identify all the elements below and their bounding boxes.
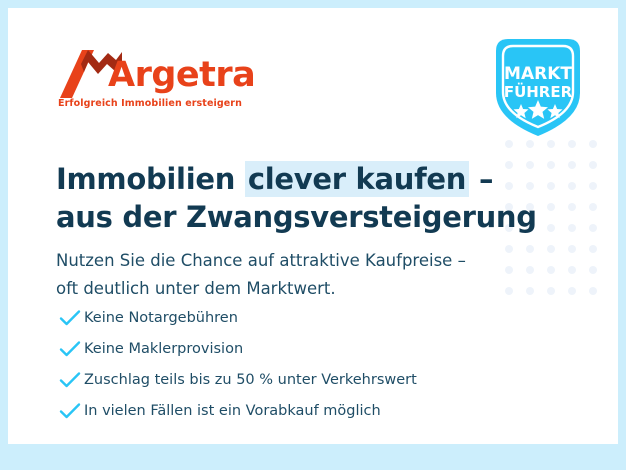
- decorative-dot: [589, 287, 597, 295]
- decorative-dot: [547, 266, 555, 274]
- decorative-dot: [547, 224, 555, 232]
- badge-line1: MARKT: [504, 64, 572, 84]
- decorative-dot: [589, 203, 597, 211]
- subtitle-line2: oft deutlich unter dem Marktwert.: [56, 279, 336, 298]
- check-icon: [56, 309, 84, 327]
- list-item: Keine Notargebühren: [56, 302, 486, 333]
- badge-line2: FÜHRER: [504, 82, 573, 101]
- decorative-dot: [547, 140, 555, 148]
- headline-pre: Immobilien: [56, 162, 245, 196]
- decorative-dot: [547, 287, 555, 295]
- benefit-list: Keine NotargebührenKeine Maklerprovision…: [56, 302, 486, 426]
- list-item: Zuschlag teils bis zu 50 % unter Verkehr…: [56, 364, 486, 395]
- decorative-dot: [568, 140, 576, 148]
- logo-wordmark: Argetra: [108, 54, 255, 96]
- decorative-dot: [505, 266, 513, 274]
- page-subtitle: Nutzen Sie die Chance auf attraktive Kau…: [56, 247, 466, 303]
- list-item: In vielen Fällen ist ein Vorabkauf mögli…: [56, 395, 486, 426]
- headline-line2: aus der Zwangsversteigerung: [56, 200, 537, 234]
- banner-canvas: Argetra Erfolgreich Immobilien ersteiger…: [8, 8, 618, 444]
- list-item-label: Keine Maklerprovision: [84, 340, 243, 358]
- decorative-dot: [505, 287, 513, 295]
- decorative-dot: [547, 182, 555, 190]
- decorative-dot: [505, 140, 513, 148]
- decorative-dot: [589, 266, 597, 274]
- decorative-dot: [589, 182, 597, 190]
- decorative-dot: [526, 140, 534, 148]
- decorative-dot: [568, 182, 576, 190]
- decorative-dot: [547, 161, 555, 169]
- list-item-label: Keine Notargebühren: [84, 309, 238, 327]
- decorative-dot: [589, 245, 597, 253]
- check-icon: [56, 402, 84, 420]
- list-item-label: In vielen Fällen ist ein Vorabkauf mögli…: [84, 402, 381, 420]
- argetra-logo[interactable]: Argetra Erfolgreich Immobilien ersteiger…: [56, 48, 256, 98]
- page-title: Immobilien clever kaufen – aus der Zwang…: [56, 160, 537, 236]
- subtitle-line1: Nutzen Sie die Chance auf attraktive Kau…: [56, 251, 466, 270]
- decorative-dot: [589, 140, 597, 148]
- decorative-dot: [568, 266, 576, 274]
- decorative-dot: [526, 266, 534, 274]
- market-leader-badge: MARKT FÜHRER: [490, 33, 586, 141]
- check-icon: [56, 340, 84, 358]
- decorative-dot: [589, 224, 597, 232]
- decorative-dot: [568, 224, 576, 232]
- decorative-dot: [568, 245, 576, 253]
- logo-tagline: Erfolgreich Immobilien ersteigern: [58, 98, 242, 109]
- headline-highlight: clever kaufen: [245, 161, 469, 197]
- decorative-dot: [589, 161, 597, 169]
- decorative-dot: [568, 287, 576, 295]
- decorative-dot: [505, 245, 513, 253]
- decorative-dot: [547, 245, 555, 253]
- decorative-dot: [526, 245, 534, 253]
- decorative-dot: [547, 203, 555, 211]
- list-item-label: Zuschlag teils bis zu 50 % unter Verkehr…: [84, 371, 417, 389]
- list-item: Keine Maklerprovision: [56, 333, 486, 364]
- decorative-dot: [526, 287, 534, 295]
- promo-banner: Argetra Erfolgreich Immobilien ersteiger…: [0, 0, 626, 470]
- headline-line1: Immobilien clever kaufen –: [56, 161, 493, 197]
- check-icon: [56, 371, 84, 389]
- logo-row: Argetra: [56, 48, 256, 98]
- decorative-dot: [568, 203, 576, 211]
- decorative-dot: [568, 161, 576, 169]
- headline-post: –: [469, 162, 493, 196]
